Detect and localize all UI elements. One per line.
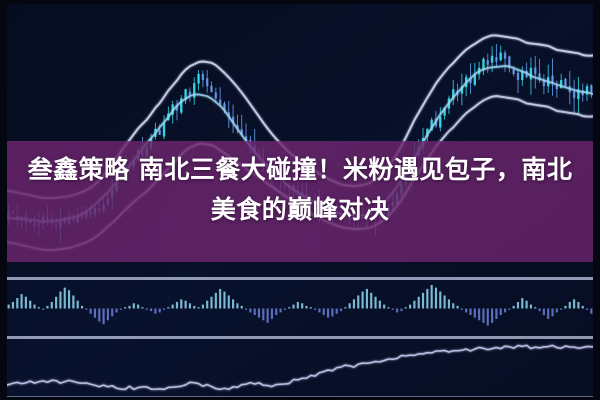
divider-macd-indicator [0,336,600,339]
trading-chart-banner-image: 叁鑫策略 南北三餐大碰撞！米粉遇见包子，南北 美食的巅峰对决 [0,0,600,400]
banner-headline: 叁鑫策略 南北三餐大碰撞！米粉遇见包子，南北 美食的巅峰对决 [0,150,600,230]
divider-price-macd [0,277,600,280]
left-edge-strip [0,0,7,400]
top-edge-strip [0,0,600,4]
headline-line-1: 叁鑫策略 南北三餐大碰撞！米粉遇见包子，南北 [0,150,600,190]
macd-panel-background [0,280,600,336]
right-edge-strip [593,0,600,400]
headline-line-2: 美食的巅峰对决 [0,190,600,230]
